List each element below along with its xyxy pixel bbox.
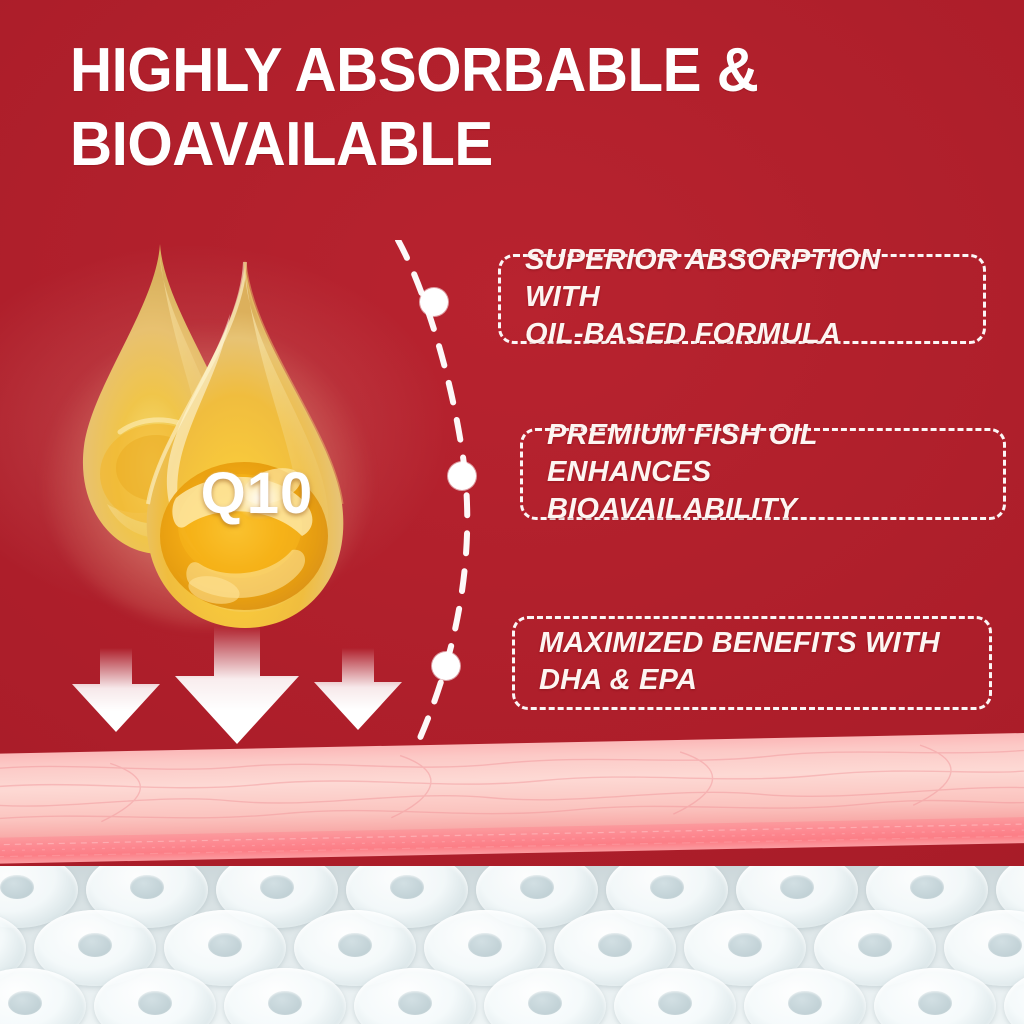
droplet-label-q10: Q10 [172, 460, 342, 527]
callout-premium-fish-oil[interactable]: PREMIUM FISH OIL ENHANCES BIOAVAILABILIT… [520, 428, 1006, 520]
callout-maximized-benefits[interactable]: MAXIMIZED BENEFITS WITH DHA & EPA [512, 616, 992, 710]
cell-row [0, 968, 1024, 1024]
callout-text: PREMIUM FISH OIL ENHANCES BIOAVAILABILIT… [547, 417, 981, 528]
down-arrow-icon-center [172, 626, 302, 746]
skin-cross-section [0, 733, 1024, 884]
connector-node-3 [432, 652, 460, 680]
connector-node-1 [420, 288, 448, 316]
cell [94, 968, 216, 1024]
cell [224, 968, 346, 1024]
connector-node-2 [448, 462, 476, 490]
cell [1004, 968, 1024, 1024]
cell [484, 968, 606, 1024]
callout-superior-absorption[interactable]: SUPERIOR ABSORPTION WITH OIL-BASED FORMU… [498, 254, 986, 344]
down-arrow-icon-left [70, 648, 162, 734]
cell [614, 968, 736, 1024]
cell [744, 968, 866, 1024]
cell-layer [0, 866, 1024, 1024]
callout-text: MAXIMIZED BENEFITS WITH DHA & EPA [539, 625, 940, 699]
product-infographic: HIGHLY ABSORBABLE & BIOAVAILABLE [0, 0, 1024, 1024]
callout-text: SUPERIOR ABSORPTION WITH OIL-BASED FORMU… [525, 242, 961, 353]
oil-droplet-group: Q10 [52, 236, 382, 636]
cell [874, 968, 996, 1024]
page-title: HIGHLY ABSORBABLE & BIOAVAILABLE [70, 34, 916, 182]
oil-droplet-icon-front [120, 254, 370, 636]
cell [354, 968, 476, 1024]
down-arrow-group [60, 638, 400, 746]
dashed-curve-icon [390, 240, 510, 740]
cell [0, 968, 86, 1024]
